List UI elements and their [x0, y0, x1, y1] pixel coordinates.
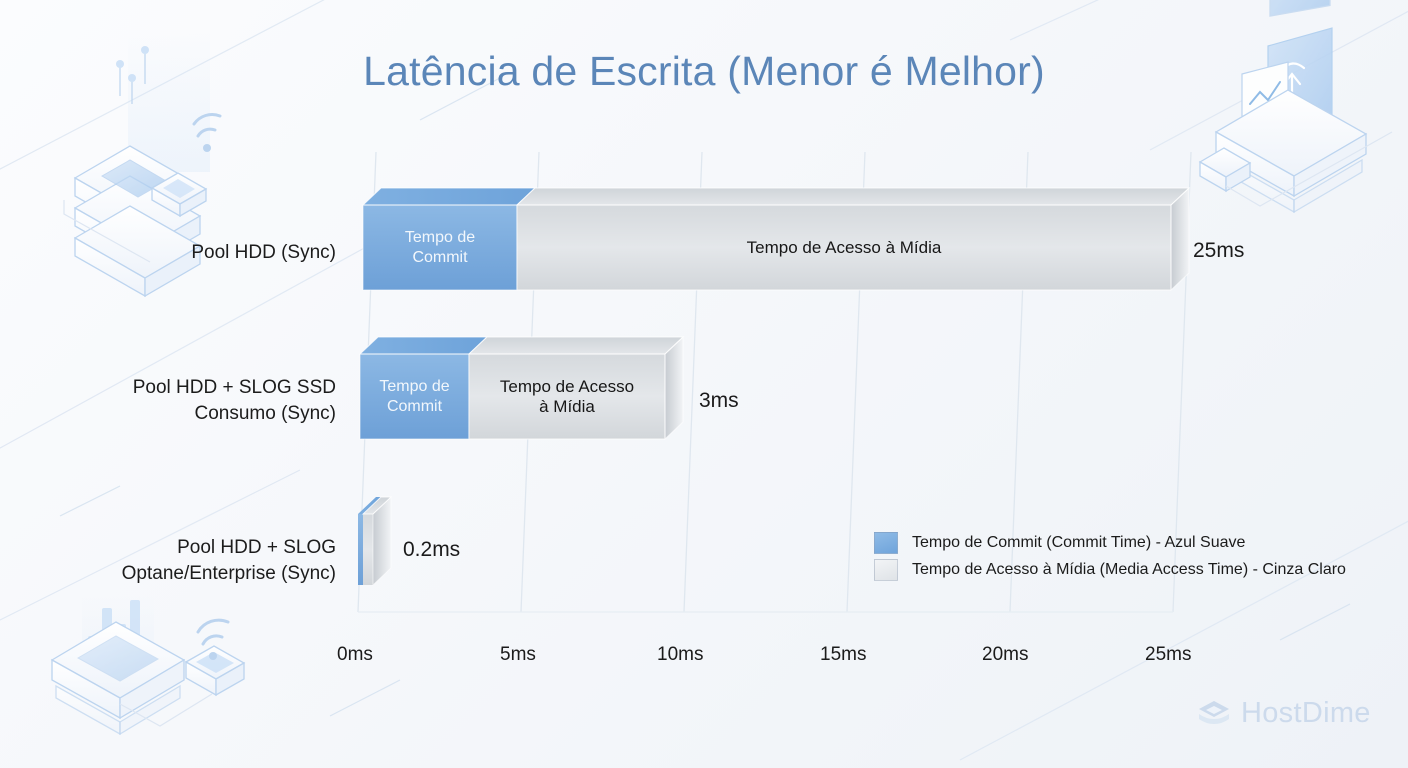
- x-tick-0: 0ms: [337, 644, 373, 666]
- bar-segment-media: [363, 497, 391, 585]
- legend-item-media[interactable]: Tempo de Acesso à Mídia (Media Access Ti…: [874, 556, 1346, 583]
- value-label-pool-hdd-slog-ssd: 3ms: [699, 389, 739, 413]
- bar-pool-hdd-slog-optane: [358, 497, 391, 585]
- x-tick-1: 5ms: [500, 644, 536, 666]
- category-label-line: Consumo (Sync): [133, 401, 336, 427]
- legend-label-media: Tempo de Acesso à Mídia (Media Access Ti…: [912, 561, 1346, 579]
- x-tick-4: 20ms: [982, 644, 1028, 666]
- legend-label-commit: Tempo de Commit (Commit Time) - Azul Sua…: [912, 534, 1245, 552]
- x-tick-2: 10ms: [657, 644, 703, 666]
- category-label-line: Optane/Enterprise (Sync): [122, 561, 336, 587]
- category-label-line: Pool HDD (Sync): [191, 240, 336, 266]
- category-label-pool-hdd-slog-optane: Pool HDD + SLOG Optane/Enterprise (Sync): [122, 535, 336, 587]
- bar-segment-commit: [363, 188, 535, 290]
- category-label-pool-hdd-slog-ssd: Pool HDD + SLOG SSD Consumo (Sync): [133, 375, 336, 427]
- category-label-line: Pool HDD + SLOG: [122, 535, 336, 561]
- legend-swatch-commit-icon: [874, 532, 898, 554]
- value-label-pool-hdd-sync: 25ms: [1193, 239, 1244, 263]
- bar-pool-hdd-sync: [363, 188, 1189, 290]
- hostdime-logo-text: HostDime: [1241, 697, 1371, 730]
- chart-legend: Tempo de Commit (Commit Time) - Azul Sua…: [874, 529, 1346, 583]
- value-label-pool-hdd-slog-optane: 0.2ms: [403, 538, 460, 562]
- category-label-line: Pool HDD + SLOG SSD: [133, 375, 336, 401]
- hostdime-logo: HostDime: [1196, 697, 1371, 730]
- stacked-layers-icon: [1196, 698, 1232, 730]
- legend-swatch-media-icon: [874, 559, 898, 581]
- bar-segment-commit: [360, 337, 487, 439]
- bar-segment-media: [469, 337, 683, 439]
- legend-item-commit[interactable]: Tempo de Commit (Commit Time) - Azul Sua…: [874, 529, 1346, 556]
- bar-pool-hdd-slog-ssd: [360, 337, 683, 439]
- x-tick-5: 25ms: [1145, 644, 1191, 666]
- bar-segment-media: [517, 188, 1189, 290]
- x-tick-3: 15ms: [820, 644, 866, 666]
- category-label-pool-hdd-sync: Pool HDD (Sync): [191, 240, 336, 266]
